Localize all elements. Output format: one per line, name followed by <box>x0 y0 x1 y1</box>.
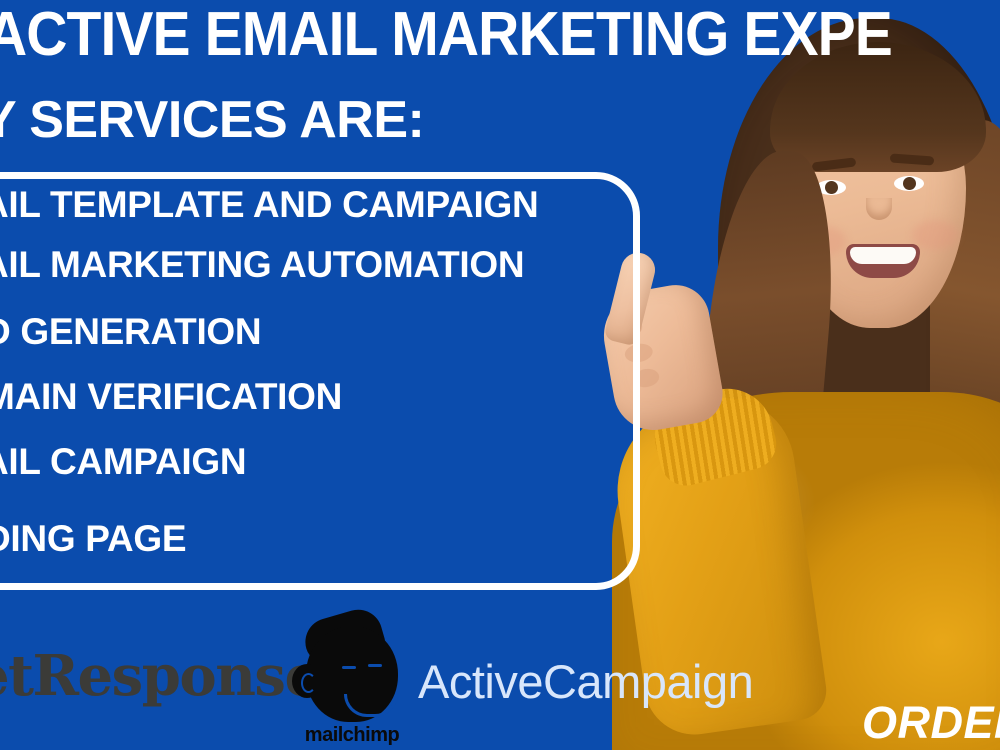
mailchimp-ear-icon <box>292 664 322 698</box>
list-item: AIL CAMPAIGN <box>0 443 660 480</box>
services-list: AIL TEMPLATE AND CAMPAIGN AIL MARKETING … <box>0 186 660 557</box>
mailchimp-wordmark: mailchimp <box>292 724 412 747</box>
list-item: AIL MARKETING AUTOMATION <box>0 246 660 283</box>
subtitle: Y SERVICES ARE: <box>0 94 424 146</box>
mouth-smiling <box>846 244 920 278</box>
list-item: DING PAGE <box>0 520 660 557</box>
eye-right <box>894 176 924 191</box>
mailchimp-eye-left <box>342 666 356 669</box>
cheek-right <box>912 220 958 250</box>
list-item: D GENERATION <box>0 313 660 350</box>
list-item: MAIN VERIFICATION <box>0 378 660 415</box>
mailchimp-eye-right <box>368 664 382 667</box>
teeth <box>850 247 916 264</box>
mailchimp-logo: mailchimp <box>292 612 412 750</box>
order-cta[interactable]: ORDER <box>862 700 1000 745</box>
marketing-banner: ACTIVE EMAIL MARKETING EXPE Y SERVICES A… <box>0 0 1000 750</box>
activecampaign-logo: ActiveCampaign <box>418 658 753 705</box>
list-item: AIL TEMPLATE AND CAMPAIGN <box>0 186 660 223</box>
page-title: ACTIVE EMAIL MARKETING EXPE <box>0 4 892 66</box>
mailchimp-mouth <box>344 694 398 717</box>
getresponse-logo: etResponse <box>0 648 319 704</box>
